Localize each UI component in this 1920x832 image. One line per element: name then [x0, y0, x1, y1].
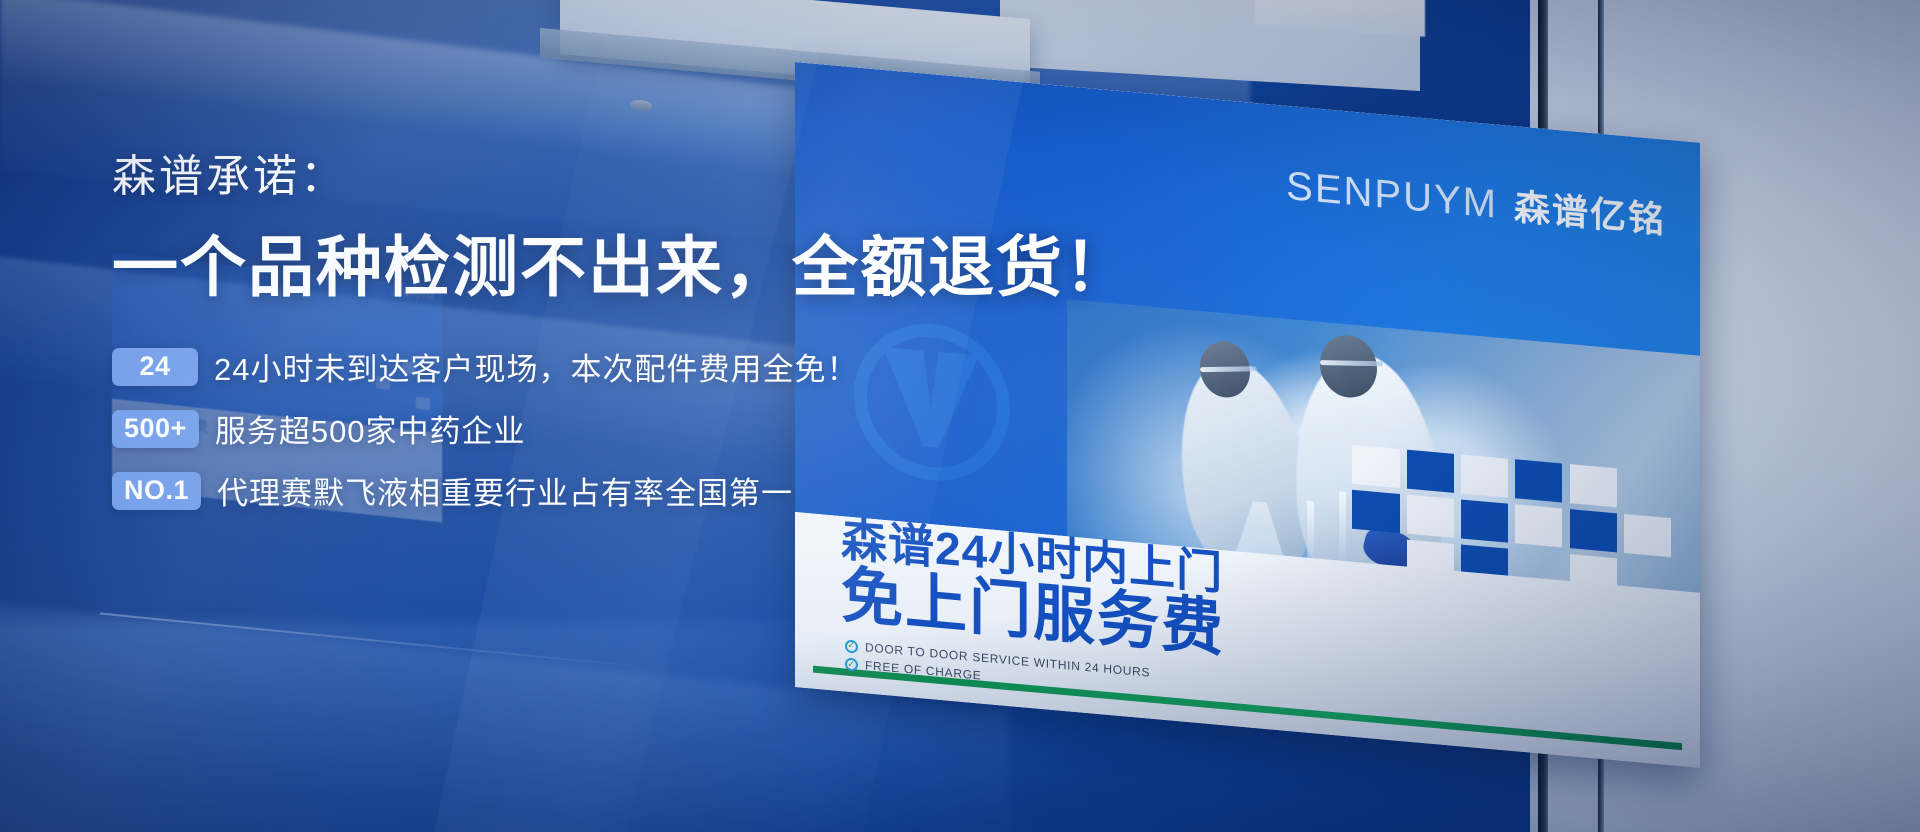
scene-vignette: [0, 0, 1920, 832]
scene-root: SENPUYM 免上门服务费: [0, 0, 1920, 832]
